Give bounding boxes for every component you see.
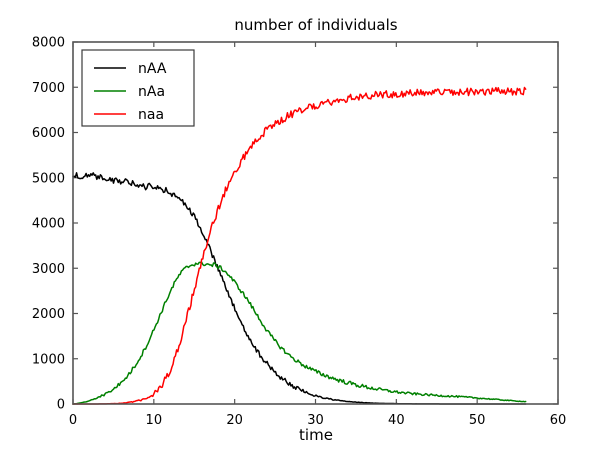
chart-canvas: number of individuals 010002000300040005… [0,0,600,450]
y-tick-label: 8000 [32,36,65,51]
y-tick-label: 7000 [32,81,65,96]
matplotlib-figure: number of individuals 010002000300040005… [0,0,600,450]
y-axis-tick-labels: 010002000300040005000600070008000 [32,36,65,413]
y-tick-label: 6000 [32,126,65,141]
x-tick-label: 10 [146,413,163,428]
x-axis-label: time [299,426,333,444]
y-tick-label: 4000 [32,217,65,232]
y-tick-label: 1000 [32,352,65,367]
legend-label-nAA: nAA [138,61,167,77]
legend-label-naa: naa [138,107,164,123]
chart-title: number of individuals [234,16,397,34]
x-tick-label: 0 [69,413,77,428]
y-tick-label: 0 [57,398,65,413]
x-tick-label: 60 [550,413,567,428]
chart-legend[interactable]: nAAnAanaa [82,50,194,126]
legend-label-nAa: nAa [138,84,165,100]
x-tick-label: 50 [469,413,486,428]
y-tick-label: 3000 [32,262,65,277]
x-tick-label: 40 [388,413,405,428]
x-tick-label: 20 [226,413,243,428]
y-tick-label: 2000 [32,307,65,322]
y-tick-label: 5000 [32,171,65,186]
